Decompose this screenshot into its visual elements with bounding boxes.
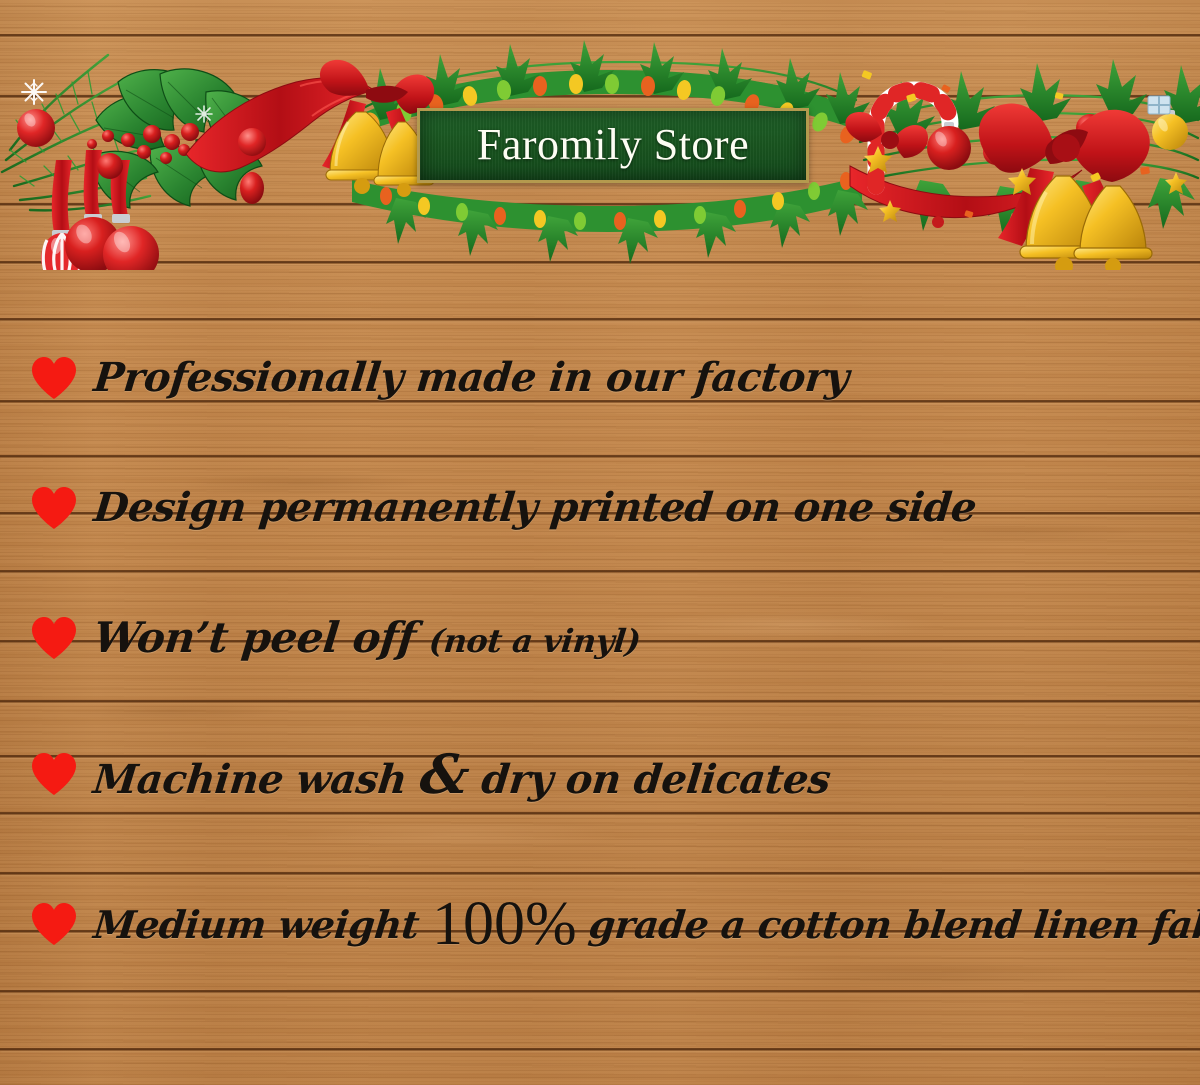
feature-item-machine-wash: Machine wash & dry on delicates bbox=[30, 738, 831, 810]
plank-divider bbox=[0, 455, 1200, 458]
plank-divider bbox=[0, 318, 1200, 321]
ampersand-glyph: & bbox=[417, 742, 472, 806]
plank-divider bbox=[0, 700, 1200, 703]
feature-item-fabric-weight: Medium weight 100% grade a cotton blend … bbox=[30, 888, 1200, 960]
plank-divider bbox=[0, 1048, 1200, 1051]
product-feature-banner: Faromily Store Professionally made in ou… bbox=[0, 0, 1200, 1085]
store-sign: Faromily Store bbox=[417, 108, 809, 183]
feature-text-main: Won’t peel off bbox=[91, 613, 432, 662]
feature-item-permanent-print: Design permanently printed on one side bbox=[30, 472, 976, 544]
plank-divider bbox=[0, 812, 1200, 815]
plank-divider bbox=[0, 261, 1200, 264]
feature-text: Won’t peel off (not a vinyl) bbox=[92, 617, 643, 659]
feature-text: Professionally made in our factory bbox=[92, 358, 851, 398]
heart-icon bbox=[30, 901, 78, 947]
plank-divider bbox=[0, 95, 1200, 98]
plank-divider bbox=[0, 203, 1200, 206]
store-name: Faromily Store bbox=[417, 108, 809, 183]
feature-text-tail: grade a cotton blend linen fabric bbox=[574, 902, 1200, 947]
feature-text-main: Machine wash bbox=[91, 756, 423, 803]
feature-text: Design permanently printed on one side bbox=[92, 488, 978, 528]
feature-item-made-in-factory: Professionally made in our factory bbox=[30, 342, 848, 414]
plank-divider bbox=[0, 872, 1200, 875]
feature-text: Medium weight 100% grade a cotton blend … bbox=[91, 893, 1200, 955]
plank-divider bbox=[0, 34, 1200, 37]
feature-text: Machine wash & dry on delicates bbox=[91, 747, 833, 801]
feature-text-note: (not a vinyl) bbox=[427, 622, 642, 660]
heart-icon bbox=[30, 485, 78, 531]
heart-icon bbox=[30, 751, 78, 797]
plank-divider bbox=[0, 570, 1200, 573]
percentage-value: 100% bbox=[432, 893, 577, 955]
feature-text-tail: dry on delicates bbox=[466, 756, 833, 803]
plank-divider bbox=[0, 990, 1200, 993]
feature-item-wont-peel-off: Won’t peel off (not a vinyl) bbox=[30, 602, 641, 674]
heart-icon bbox=[30, 615, 78, 661]
feature-text-main: Medium weight bbox=[92, 902, 434, 947]
heart-icon bbox=[30, 355, 78, 401]
